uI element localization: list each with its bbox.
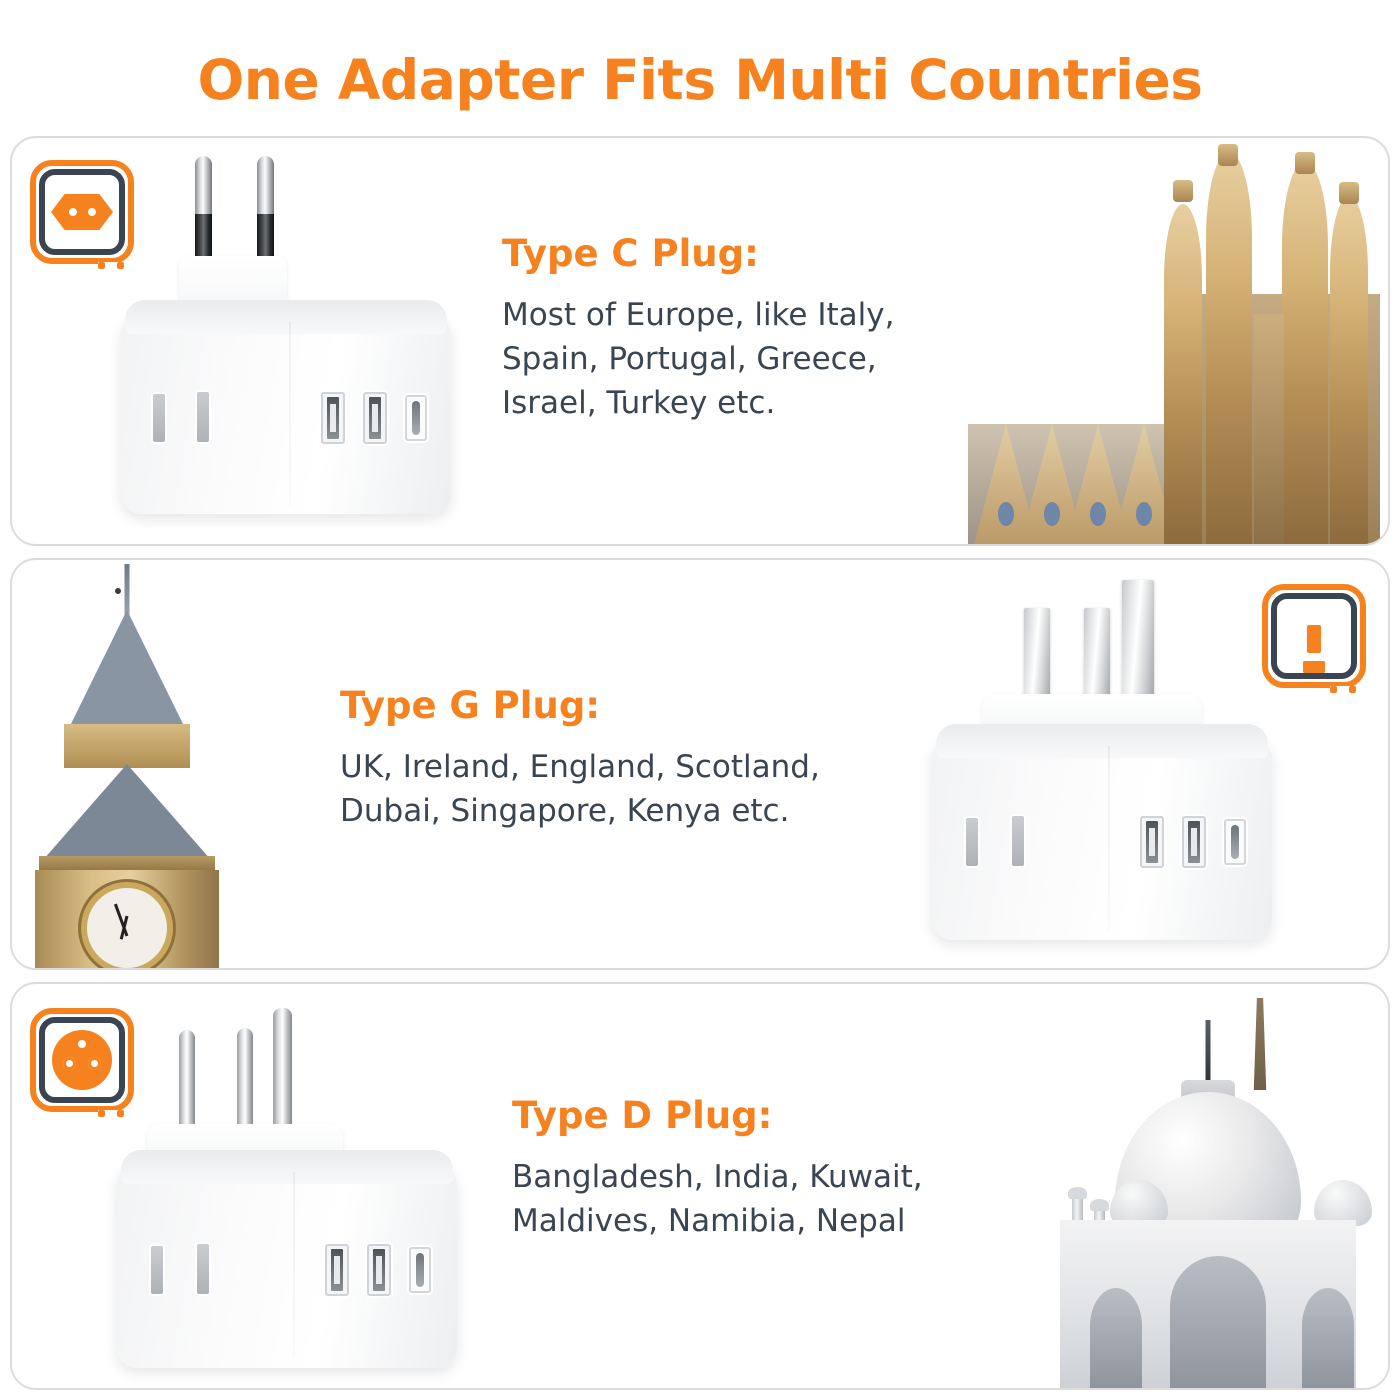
taj-central-iwan	[1170, 1256, 1266, 1388]
uk-blade-pin-earth	[1122, 580, 1154, 712]
adapter-top-face	[121, 1150, 453, 1184]
adapter-corner-edge	[293, 1172, 295, 1356]
india-travel-adapter-photo	[117, 1002, 477, 1378]
big-ben-upper-belfry	[64, 724, 190, 768]
usb-c-port	[409, 1247, 431, 1293]
adapter-corner-edge	[289, 322, 291, 506]
type-d-circle-glyph	[52, 1030, 112, 1090]
usb-a-port-1	[1140, 816, 1164, 868]
basilica-spire-4	[1330, 196, 1368, 544]
ac-outlet-slot-left	[153, 394, 165, 442]
big-ben-lower-spire	[43, 764, 211, 860]
ac-outlet-slot-right	[1012, 816, 1024, 866]
type-c-plug-title: Type C Plug:	[502, 232, 972, 275]
adapter-body	[117, 1166, 457, 1368]
big-ben-finial-cross	[115, 588, 121, 594]
big-ben-clock-face	[81, 882, 173, 968]
adapter-corner-edge	[1108, 746, 1110, 930]
basilica-spire-cap-2	[1218, 144, 1238, 166]
ac-outlet-slot-right	[197, 392, 209, 442]
usb-c-port	[1224, 819, 1246, 865]
socket-hole-neutral	[88, 1057, 101, 1070]
taj-mahal-photo	[1048, 984, 1388, 1388]
socket-icon-inner-frame	[39, 1017, 125, 1103]
basilica-spire-cap-3	[1295, 152, 1315, 174]
socket-slot-neutral	[1303, 661, 1325, 673]
big-ben-upper-spire	[69, 610, 185, 728]
type-g-socket-icon	[1262, 584, 1366, 688]
adapter-body	[932, 740, 1272, 940]
basilica-spire-1	[1164, 204, 1202, 544]
infographic-page: One Adapter Fits Multi Countries	[0, 0, 1400, 1400]
uk-travel-adapter-photo	[932, 574, 1292, 954]
usb-a-port-1	[325, 1244, 349, 1296]
taj-side-arch-right	[1302, 1288, 1354, 1388]
plug-card-type-d: Type D Plug: Bangladesh, India, Kuwait, …	[10, 982, 1390, 1390]
type-d-plug-title: Type D Plug:	[512, 1094, 1032, 1137]
socket-slot-earth	[1307, 625, 1321, 653]
type-c-text-block: Type C Plug: Most of Europe, like Italy,…	[502, 232, 972, 425]
basilica-center-tower	[1254, 314, 1284, 544]
type-d-countries-line-2: Maldives, Namibia, Nepal	[512, 1199, 1032, 1243]
taj-background-minaret	[1247, 998, 1273, 1090]
socket-hole-earth	[78, 1040, 86, 1048]
type-c-countries-line-2: Spain, Portugal, Greece,	[502, 337, 972, 381]
socket-hole-right	[88, 208, 96, 216]
type-c-countries-line-1: Most of Europe, like Italy,	[502, 293, 972, 337]
page-title: One Adapter Fits Multi Countries	[0, 48, 1400, 112]
type-g-plug-title: Type G Plug:	[340, 684, 940, 727]
socket-icon-feet	[1330, 686, 1356, 693]
eu-travel-adapter-photo	[117, 156, 467, 526]
plug-card-type-g: Type G Plug: UK, Ireland, England, Scotl…	[10, 558, 1390, 970]
type-g-countries-line-2: Dubai, Singapore, Kenya etc.	[340, 789, 940, 833]
type-g-text-block: Type G Plug: UK, Ireland, England, Scotl…	[340, 684, 940, 833]
socket-hole-left	[69, 208, 77, 216]
basilica-spire-cap-1	[1173, 180, 1193, 202]
adapter-body	[121, 316, 451, 514]
usb-a-port-1	[321, 392, 345, 444]
ac-outlet-slot-left	[151, 1246, 163, 1294]
ac-outlet-slot-right	[197, 1244, 209, 1294]
india-round-pin-middle	[237, 1028, 253, 1134]
adapter-top-face	[125, 300, 447, 334]
usb-c-port	[405, 395, 427, 441]
basilica-spire-2	[1206, 152, 1252, 544]
adapter-top-face	[936, 724, 1268, 758]
type-g-pins-glyph	[1277, 599, 1351, 673]
taj-side-arch-left	[1090, 1288, 1142, 1388]
india-round-pin-earth	[273, 1008, 292, 1134]
type-c-hexagon-glyph	[51, 194, 113, 230]
india-round-pin-left	[179, 1030, 195, 1134]
type-d-text-block: Type D Plug: Bangladesh, India, Kuwait, …	[512, 1094, 1032, 1243]
type-c-countries-line-3: Israel, Turkey etc.	[502, 381, 972, 425]
taj-dome-finial	[1206, 1020, 1211, 1082]
usb-a-port-2	[367, 1244, 391, 1296]
type-d-countries-line-1: Bangladesh, India, Kuwait,	[512, 1155, 1032, 1199]
plug-card-type-c: Type C Plug: Most of Europe, like Italy,…	[10, 136, 1390, 546]
socket-icon-inner-frame	[39, 169, 125, 255]
usb-a-port-2	[363, 392, 387, 444]
basilica-spire-3	[1282, 162, 1328, 544]
usb-a-port-2	[1182, 816, 1206, 868]
socket-icon-inner-frame	[1271, 593, 1357, 679]
ac-outlet-slot-left	[966, 818, 978, 866]
socket-hole-live	[63, 1057, 76, 1070]
basilica-spire-cap-4	[1339, 182, 1359, 204]
sagrada-familia-photo	[958, 138, 1388, 544]
type-g-countries-line-1: UK, Ireland, England, Scotland,	[340, 745, 940, 789]
big-ben-photo	[12, 560, 242, 968]
